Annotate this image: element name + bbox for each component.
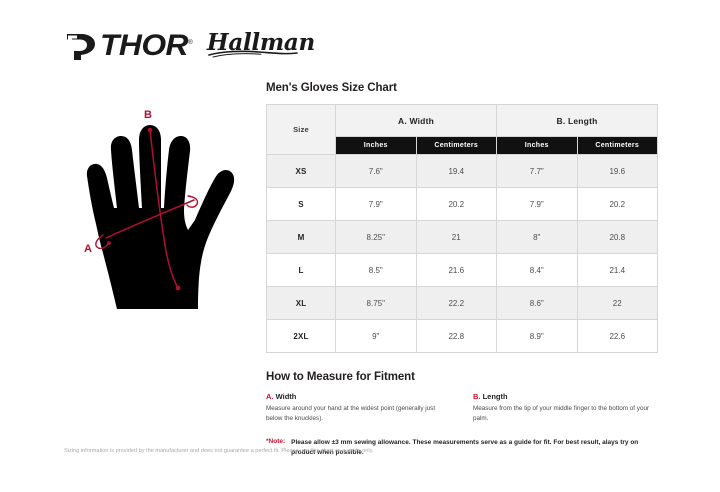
thor-hammer-icon bbox=[64, 30, 98, 62]
size-chart-table: Size A. Width B. Length Inches Centimete… bbox=[266, 104, 658, 353]
cell-width-centimeters: 21 bbox=[416, 221, 497, 254]
note-label: *Note: bbox=[266, 438, 285, 445]
cell-width-inches: 7.9" bbox=[336, 188, 417, 221]
cell-length-inches: 8.6" bbox=[497, 287, 578, 320]
column-header-width-centimeters: Centimeters bbox=[416, 137, 497, 155]
cell-size: M bbox=[267, 221, 336, 254]
how-to-measure-section: How to Measure for Fitment A. Width Meas… bbox=[266, 371, 658, 458]
cell-length-inches: 8.4" bbox=[497, 254, 578, 287]
size-chart-content: Men's Gloves Size Chart Size A. Width B.… bbox=[266, 82, 658, 458]
cell-length-inches: 8" bbox=[497, 221, 578, 254]
cell-size: XS bbox=[267, 155, 336, 188]
measure-name-length: Length bbox=[483, 392, 508, 401]
cell-size: 2XL bbox=[267, 320, 336, 353]
cell-width-inches: 8.75" bbox=[336, 287, 417, 320]
cell-width-centimeters: 22.2 bbox=[416, 287, 497, 320]
column-group-width: A. Width bbox=[336, 105, 497, 137]
thor-logo: THOR® bbox=[64, 30, 187, 62]
cell-length-centimeters: 20.2 bbox=[577, 188, 658, 221]
cell-length-centimeters: 22 bbox=[577, 287, 658, 320]
cell-length-inches: 7.7" bbox=[497, 155, 578, 188]
footer-disclaimer: Sizing information is provided by the ma… bbox=[64, 447, 384, 457]
measure-item-length: B. Length Measure from the tip of your m… bbox=[473, 392, 658, 424]
how-to-measure-title: How to Measure for Fitment bbox=[266, 371, 658, 383]
column-header-size: Size bbox=[267, 105, 336, 155]
measure-marker-a: A. bbox=[266, 392, 274, 401]
measure-item-width-heading: A. Width bbox=[266, 392, 451, 401]
hallman-wordmark: Hallman bbox=[207, 31, 315, 54]
cell-length-centimeters: 19.6 bbox=[577, 155, 658, 188]
measure-item-length-heading: B. Length bbox=[473, 392, 658, 401]
cell-width-centimeters: 20.2 bbox=[416, 188, 497, 221]
cell-width-inches: 8.25" bbox=[336, 221, 417, 254]
cell-length-centimeters: 20.8 bbox=[577, 221, 658, 254]
width-label-a: A bbox=[84, 243, 92, 255]
width-line-end-dot bbox=[107, 241, 111, 245]
cell-size: L bbox=[267, 254, 336, 287]
cell-width-centimeters: 22.8 bbox=[416, 320, 497, 353]
cell-size: S bbox=[267, 188, 336, 221]
brand-logo-bar: THOR® Hallman bbox=[64, 30, 315, 62]
table-row: S 7.9" 20.2 7.9" 20.2 bbox=[267, 188, 658, 221]
page-title: Men's Gloves Size Chart bbox=[266, 82, 658, 94]
table-body: XS 7.6" 19.4 7.7" 19.6 S 7.9" 20.2 7.9" … bbox=[267, 155, 658, 353]
thor-wordmark: THOR® bbox=[100, 31, 192, 61]
cell-size: XL bbox=[267, 287, 336, 320]
length-label-b: B bbox=[144, 109, 152, 121]
column-header-width-inches: Inches bbox=[336, 137, 417, 155]
cell-length-centimeters: 21.4 bbox=[577, 254, 658, 287]
column-header-length-centimeters: Centimeters bbox=[577, 137, 658, 155]
length-line-end-dot bbox=[176, 286, 181, 291]
cell-width-inches: 8.5" bbox=[336, 254, 417, 287]
table-row: XL 8.75" 22.2 8.6" 22 bbox=[267, 287, 658, 320]
cell-length-inches: 7.9" bbox=[497, 188, 578, 221]
hallman-logo: Hallman bbox=[207, 31, 315, 62]
table-row: L 8.5" 21.6 8.4" 21.4 bbox=[267, 254, 658, 287]
cell-width-inches: 9" bbox=[336, 320, 417, 353]
column-header-length-inches: Inches bbox=[497, 137, 578, 155]
measure-item-width: A. Width Measure around your hand at the… bbox=[266, 392, 451, 424]
measure-marker-b: B. bbox=[473, 392, 481, 401]
table-row: M 8.25" 21 8" 20.8 bbox=[267, 221, 658, 254]
hand-measurement-diagram: B A bbox=[62, 96, 267, 321]
cell-width-inches: 7.6" bbox=[336, 155, 417, 188]
length-line-start-dot bbox=[148, 128, 152, 132]
cell-width-centimeters: 19.4 bbox=[416, 155, 497, 188]
table-row: 2XL 9" 22.8 8.9" 22.6 bbox=[267, 320, 658, 353]
column-group-length: B. Length bbox=[497, 105, 658, 137]
measure-name-width: Width bbox=[276, 392, 297, 401]
how-to-measure-columns: A. Width Measure around your hand at the… bbox=[266, 392, 658, 424]
cell-length-inches: 8.9" bbox=[497, 320, 578, 353]
measure-item-width-text: Measure around your hand at the widest p… bbox=[266, 404, 451, 424]
table-header-row-groups: Size A. Width B. Length bbox=[267, 105, 658, 137]
cell-width-centimeters: 21.6 bbox=[416, 254, 497, 287]
table-header: Size A. Width B. Length Inches Centimete… bbox=[267, 105, 658, 155]
cell-length-centimeters: 22.6 bbox=[577, 320, 658, 353]
measure-item-length-text: Measure from the tip of your middle fing… bbox=[473, 404, 658, 424]
registered-mark: ® bbox=[188, 40, 192, 46]
table-row: XS 7.6" 19.4 7.7" 19.6 bbox=[267, 155, 658, 188]
